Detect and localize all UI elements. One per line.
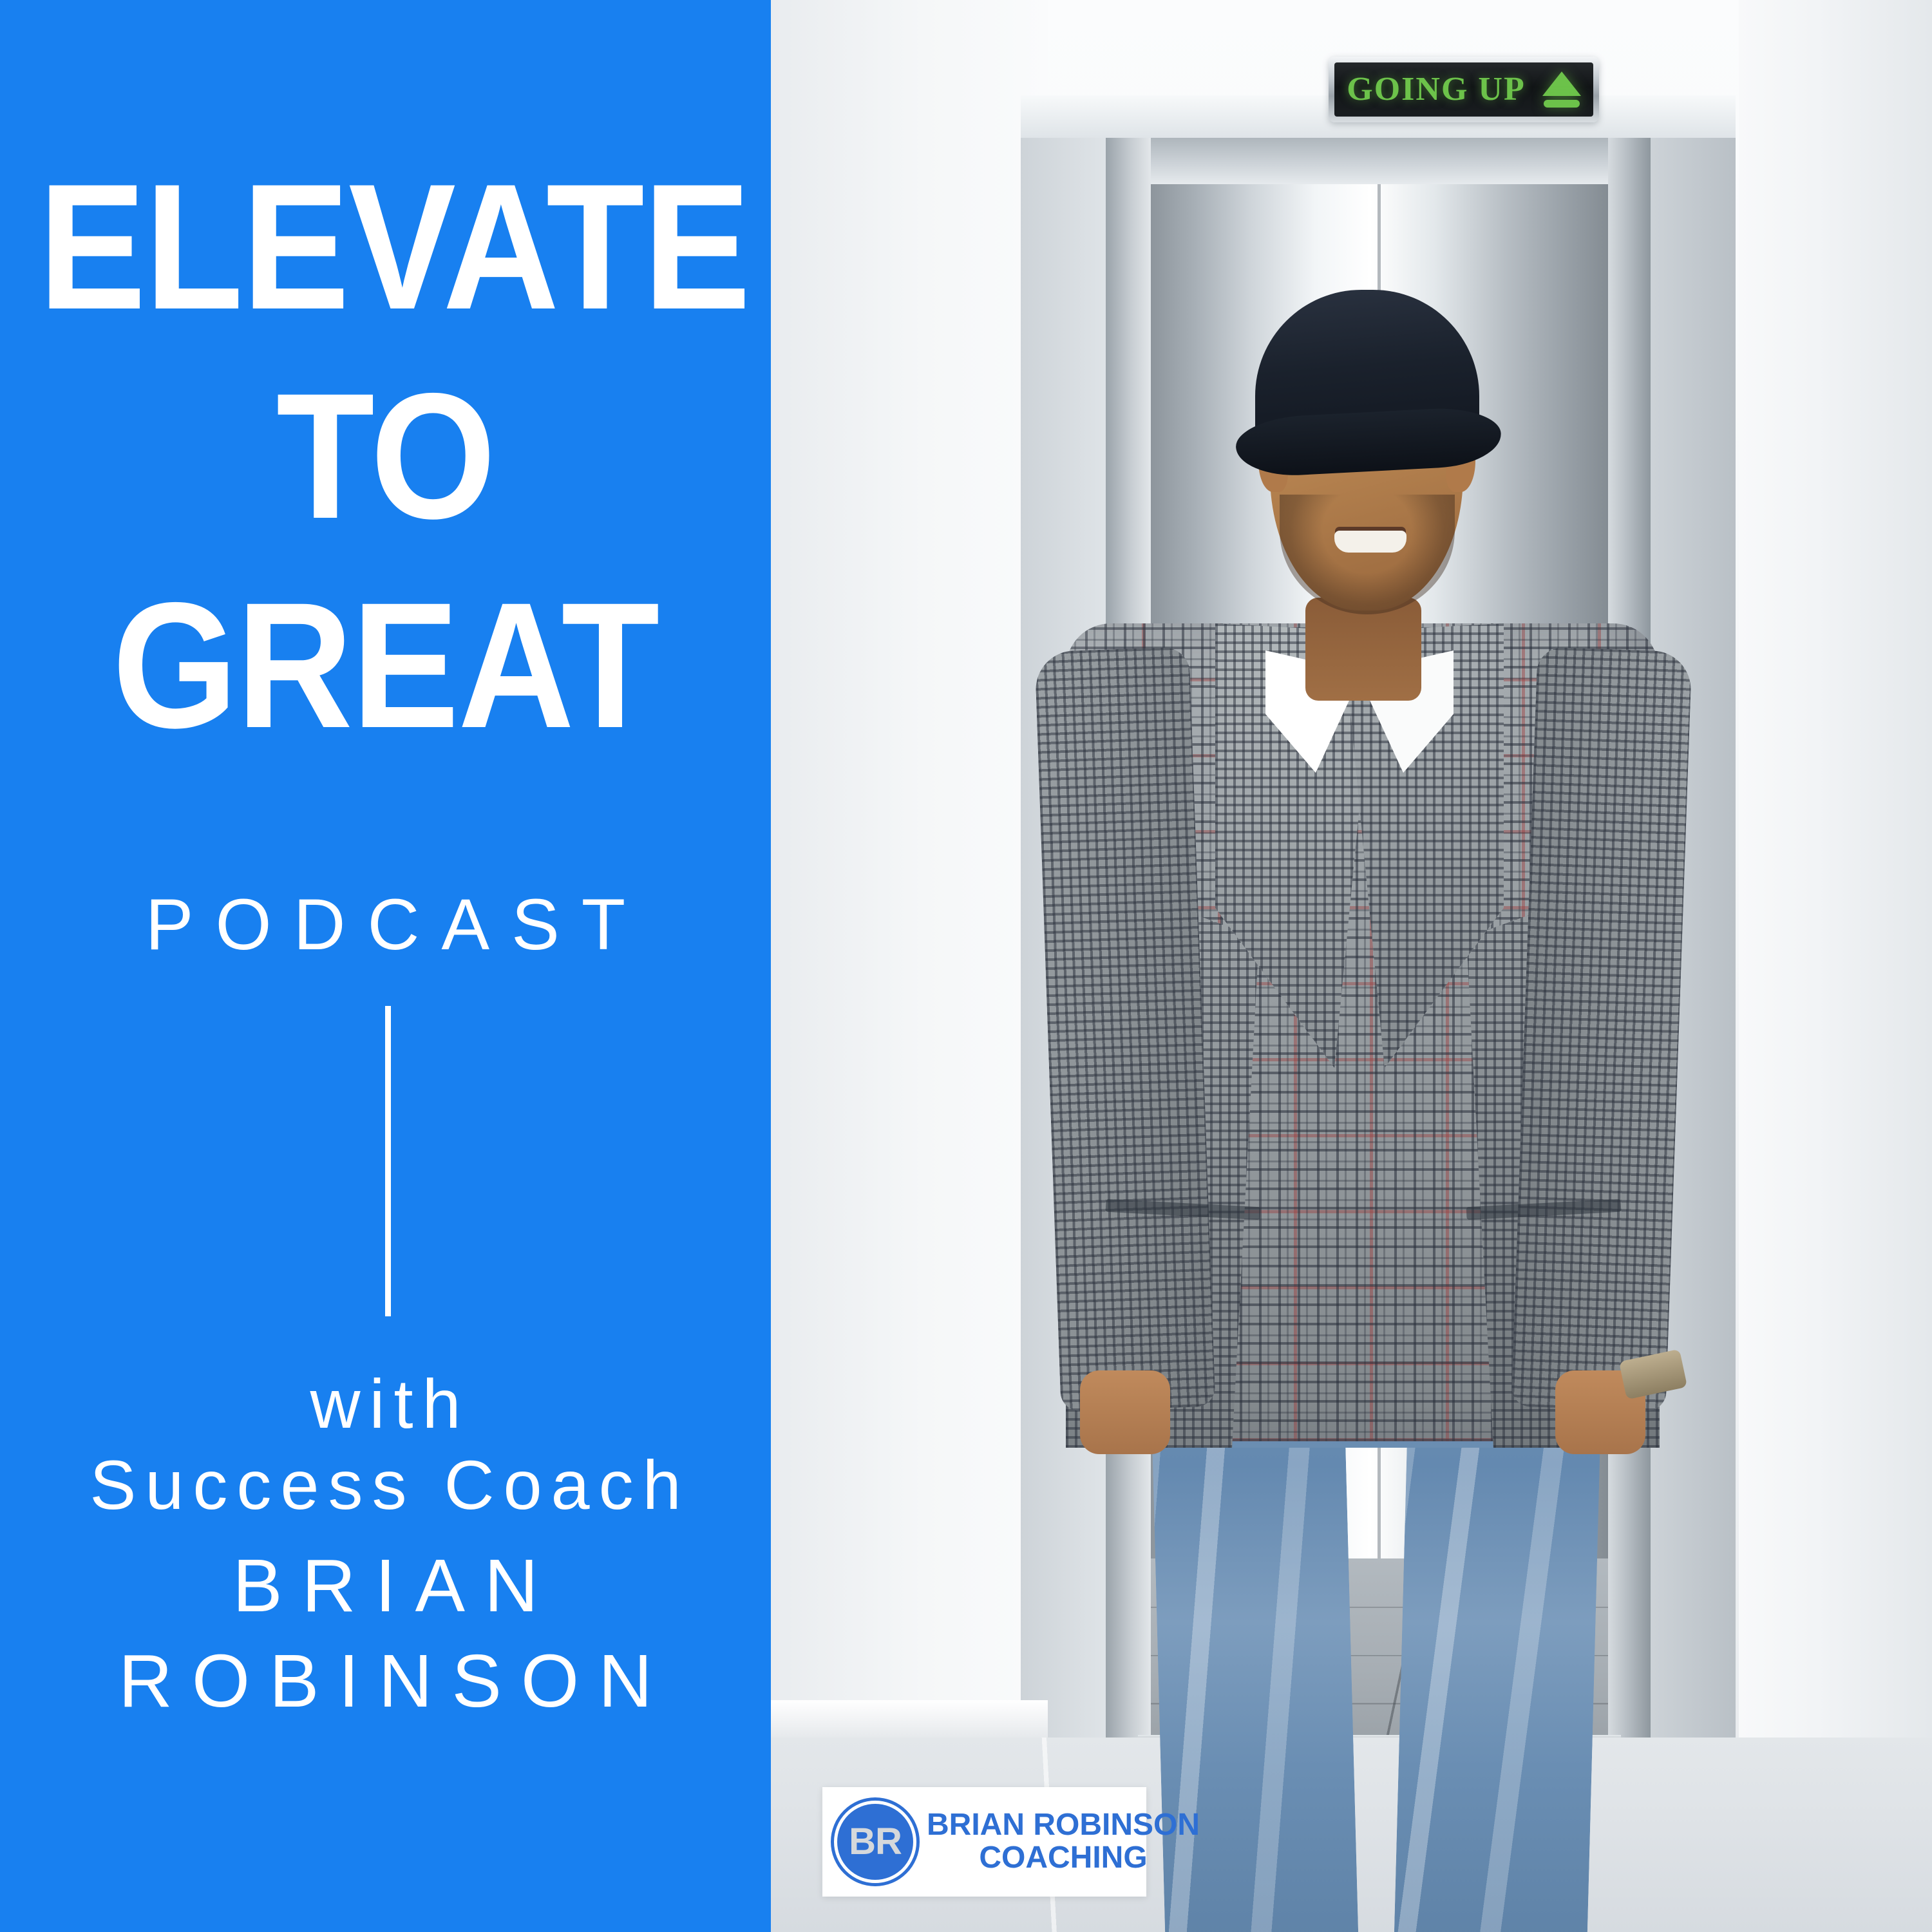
- title-panel: ELEVATE TO GREAT PODCAST with Success Co…: [0, 0, 771, 1932]
- show-title: ELEVATE TO GREAT: [0, 161, 771, 752]
- byline-role: Success Coach: [0, 1450, 771, 1520]
- title-line-3: GREAT: [39, 580, 732, 752]
- hand-left: [1080, 1370, 1170, 1454]
- host-first-name: BRIAN: [0, 1548, 771, 1623]
- podcast-kicker: PODCAST: [0, 889, 771, 961]
- blazer-sleeve-left: [1034, 647, 1215, 1412]
- blazer-sleeve-right: [1511, 647, 1692, 1412]
- elevator-indicator-sign: GOING UP: [1329, 57, 1599, 122]
- br-monogram-text: BR: [849, 1823, 902, 1861]
- brand-logo-line-2: COACHING: [979, 1842, 1147, 1875]
- brand-logo-badge: BR BRIAN ROBINSON COACHING: [822, 1787, 1146, 1897]
- elevator-indicator-text: GOING UP: [1347, 73, 1525, 106]
- host-last-name: ROBINSON: [0, 1643, 771, 1718]
- elevator-indicator-screen: GOING UP: [1334, 62, 1593, 117]
- br-monogram-icon: BR: [834, 1801, 916, 1883]
- smile: [1334, 531, 1406, 553]
- host-portrait: [945, 173, 1782, 1932]
- brand-logo-wordmark: BRIAN ROBINSON COACHING: [927, 1809, 1200, 1875]
- beard: [1280, 495, 1455, 614]
- byline-with: with: [0, 1369, 771, 1439]
- up-triangle-icon: [1542, 71, 1581, 108]
- title-line-1: ELEVATE: [39, 161, 732, 333]
- brand-logo-line-1: BRIAN ROBINSON: [927, 1809, 1200, 1842]
- vertical-divider: [385, 1006, 391, 1316]
- up-triangle-bar: [1544, 100, 1580, 108]
- podcast-cover-art: GOING UP ELEVATE TO GREAT PODCAST with S…: [0, 0, 1932, 1932]
- up-triangle-shape: [1542, 71, 1581, 96]
- photo-scene: GOING UP: [771, 0, 1932, 1932]
- title-line-2: TO: [39, 370, 732, 542]
